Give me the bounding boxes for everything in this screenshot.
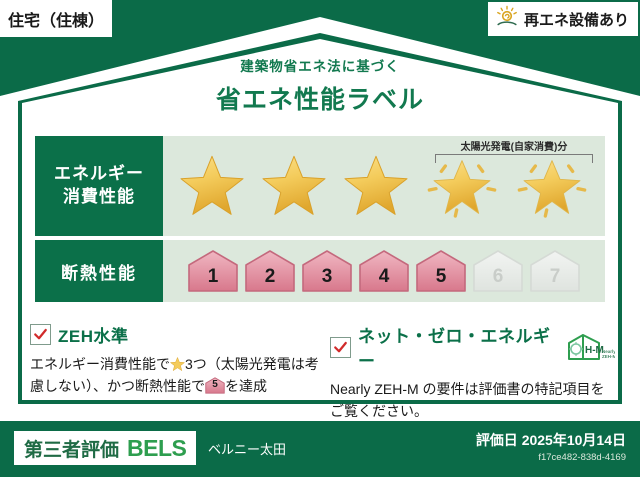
zeh-text-part3: を達成 [225, 378, 267, 394]
inline-star-icon [170, 356, 185, 371]
star-filled-2 [261, 154, 327, 218]
star-filled-1 [179, 154, 245, 218]
page-title: 省エネ性能ラベル [0, 80, 640, 116]
zeh-standard-description: エネルギー消費性能で3つ（太陽光発電は考慮しない）、かつ断熱性能で5を達成 [30, 354, 320, 397]
renewable-equipment-label: 再エネ設備あり [524, 9, 629, 30]
insulation-level-1-value: 1 [208, 266, 219, 293]
title-subtitle: 建築物省エネ法に基づく [0, 55, 640, 75]
insulation-level-3: 3 [301, 249, 353, 293]
insulation-level-6-value: 6 [493, 266, 504, 293]
insulation-level-1: 1 [187, 249, 239, 293]
energy-label-line2: 消費性能 [63, 186, 135, 209]
insulation-level-5-value: 5 [436, 266, 447, 293]
building-type-label: 住宅（住棟） [8, 7, 104, 31]
insulation-level-2-value: 2 [265, 266, 276, 293]
net-zero-energy-header: ネット・ゼロ・エネルギー H-M Nearly ZEH-M [330, 322, 615, 372]
net-zero-energy-checkbox[interactable] [330, 337, 351, 358]
evaluation-date-value: 2025年10月14日 [522, 432, 626, 448]
net-zero-energy-title: ネット・ゼロ・エネルギー [358, 322, 556, 372]
energy-star-rating: 太陽光発電(自家消費)分 [163, 136, 605, 236]
solar-sun-icon [495, 5, 519, 34]
evaluation-uid: f17ce482-838d-4169 [476, 452, 626, 463]
svg-text:ZEH-M: ZEH-M [602, 354, 615, 359]
insulation-level-6: 6 [472, 249, 524, 293]
star-filled-3 [343, 154, 409, 218]
insulation-level-3-value: 3 [322, 266, 333, 293]
solar-portion-caption: 太陽光発電(自家消費)分 [429, 138, 599, 153]
zeh-text-part1: エネルギー消費性能で [30, 356, 170, 372]
energy-performance-row: エネルギー 消費性能 [35, 136, 605, 236]
evaluation-date: 評価日 2025年10月14日 [476, 430, 626, 450]
star-solar-4 [425, 154, 499, 218]
insulation-level-5: 5 [415, 249, 467, 293]
energy-label-line1: エネルギー [54, 163, 144, 186]
building-type-tag: 住宅（住棟） [0, 0, 112, 37]
label-title-block: 建築物省エネ法に基づく 省エネ性能ラベル [0, 55, 640, 116]
evaluation-meta: 評価日 2025年10月14日 f17ce482-838d-4169 [476, 430, 626, 463]
energy-performance-label: 住宅（住棟） 再エネ設備あり 建築物省エネ法に基づく 省エネ性能ラベル [0, 0, 640, 477]
insulation-level-7-value: 7 [550, 266, 561, 293]
bels-third-party-label: 第三者評価 [24, 435, 119, 462]
star-solar-5 [515, 154, 589, 218]
bels-third-party-badge: 第三者評価 BELS [14, 431, 196, 465]
inline-insulation-badge-icon: 5 [205, 377, 225, 394]
evaluation-date-label: 評価日 [476, 432, 518, 448]
insulation-level-7: 7 [529, 249, 581, 293]
zeh-m-logo-icon: H-M Nearly ZEH-M [563, 332, 615, 362]
renewable-equipment-tag: 再エネ設備あり [488, 2, 638, 36]
inline-badge-value: 5 [205, 377, 225, 394]
insulation-performance-row-label: 断熱性能 [35, 240, 163, 302]
bels-logo-text: BELS [127, 435, 186, 462]
zeh-standard-title: ZEH水準 [58, 322, 129, 347]
zeh-checkbox[interactable] [30, 324, 51, 345]
zeh-standard-header: ZEH水準 [30, 322, 320, 347]
net-zero-energy-description: Nearly ZEH-M の要件は評価書の特記項目をご覧ください。 [330, 379, 615, 422]
insulation-label: 断熱性能 [61, 259, 137, 284]
insulation-level-4-value: 4 [379, 266, 390, 293]
zeh-star-count-text: 3つ（太陽光発電 [185, 356, 291, 372]
insulation-performance-row: 断熱性能 1 2 3 [35, 240, 605, 302]
energy-performance-row-label: エネルギー 消費性能 [35, 136, 163, 236]
zeh-standard-section: ZEH水準 エネルギー消費性能で3つ（太陽光発電は考慮しない）、かつ断熱性能で5… [30, 322, 320, 397]
insulation-level-2: 2 [244, 249, 296, 293]
insulation-level-scale: 1 2 3 4 5 6 [163, 240, 605, 302]
net-zero-energy-section: ネット・ゼロ・エネルギー H-M Nearly ZEH-M Nearly ZEH… [330, 322, 615, 422]
insulation-level-4: 4 [358, 249, 410, 293]
property-name: ベルニー太田 [208, 439, 286, 458]
